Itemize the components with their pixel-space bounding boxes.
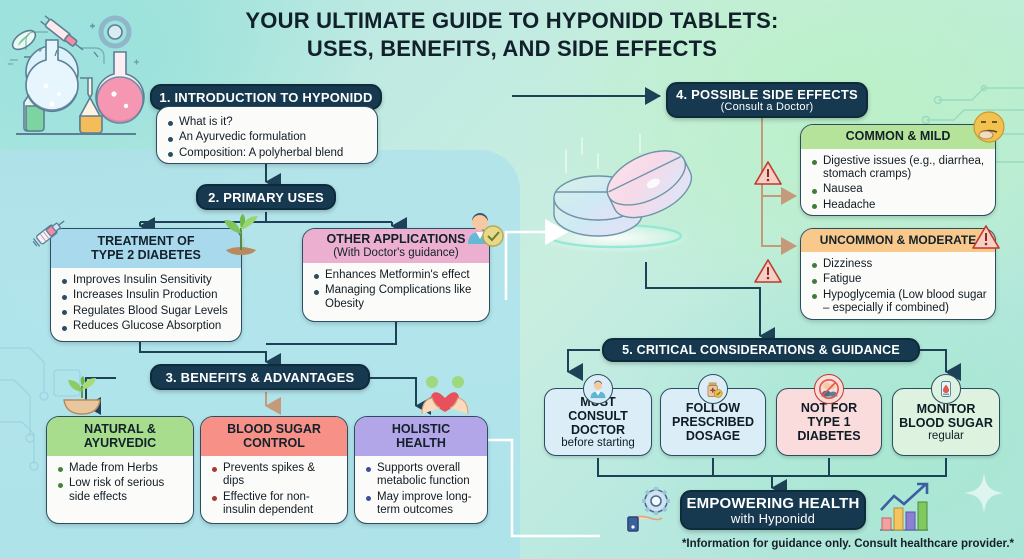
section-header-benefits-label: 3. BENEFITS & ADVANTAGES	[166, 370, 355, 385]
list-item: Composition: A polyherbal blend	[166, 147, 369, 160]
section-header-side-effects[interactable]: 4. POSSIBLE SIDE EFFECTS (Consult a Doct…	[666, 82, 868, 118]
header-line-1: OTHER APPLICATIONS	[327, 232, 466, 246]
type-2-diabetes-list: Improves Insulin Sensitivity Increases I…	[51, 268, 241, 342]
header-subline: (With Doctor's guidance)	[307, 247, 485, 259]
section-header-side-effects-subtitle: (Consult a Doctor)	[721, 101, 814, 113]
title-line-2: USES, BENEFITS, AND SIDE EFFECTS	[0, 36, 1024, 62]
natural-list: Made from Herbs Low risk of serious side…	[47, 456, 193, 513]
section-header-critical-label: 5. CRITICAL CONSIDERATIONS & GUIDANCE	[622, 343, 900, 357]
card-line-2: TYPE 1	[807, 415, 850, 429]
card-line-3: DIABETES	[797, 429, 860, 443]
card-common-mild[interactable]: COMMON & MILD Digestive issues (e.g., di…	[800, 124, 996, 216]
list-item: Low risk of serious side effects	[56, 477, 185, 504]
section-header-benefits[interactable]: 3. BENEFITS & ADVANTAGES	[150, 364, 370, 390]
footnote-disclaimer: *Information for guidance only. Consult …	[0, 538, 1014, 550]
card-blood-sugar-control[interactable]: BLOOD SUGAR CONTROL Prevents spikes & di…	[200, 416, 348, 524]
card-line-2: PRESCRIBED	[672, 415, 754, 429]
uncommon-moderate-list: Dizziness Fatigue Hypoglycemia (Low bloo…	[801, 252, 995, 320]
pill-bottle-icon	[698, 374, 728, 404]
list-item: Dizziness	[810, 258, 987, 271]
common-mild-list: Digestive issues (e.g., diarrhea, stomac…	[801, 149, 995, 217]
header-line-1: HOLISTIC	[392, 422, 450, 436]
list-item: Made from Herbs	[56, 462, 185, 475]
header-line-2: AYURVEDIC	[84, 436, 156, 450]
card-holistic-health[interactable]: HOLISTIC HEALTH Supports overall metabol…	[354, 416, 488, 524]
header-line-1: NATURAL &	[84, 422, 156, 436]
blood-sugar-list: Prevents spikes & dips Effective for non…	[201, 456, 347, 524]
card-subtitle: before starting	[561, 437, 635, 450]
other-applications-list: Enhances Metformin's effect Managing Com…	[303, 263, 489, 320]
glucose-meter-icon	[931, 374, 961, 404]
no-people-icon	[814, 374, 844, 404]
section-header-side-effects-label: 4. POSSIBLE SIDE EFFECTS	[676, 87, 858, 102]
card-natural-ayurvedic[interactable]: NATURAL & AYURVEDIC Made from Herbs Low …	[46, 416, 194, 524]
list-item: Improves Insulin Sensitivity	[60, 274, 233, 287]
list-item: Regulates Blood Sugar Levels	[60, 305, 233, 318]
card-line-2: BLOOD SUGAR	[899, 416, 993, 430]
header-line-2: CONTROL	[243, 436, 305, 450]
list-item: Increases Insulin Production	[60, 289, 233, 302]
infographic-canvas: YOUR ULTIMATE GUIDE TO HYPONIDD TABLETS:…	[0, 0, 1024, 559]
list-item: An Ayurvedic formulation	[166, 131, 369, 144]
card-natural-ayurvedic-header: NATURAL & AYURVEDIC	[47, 417, 193, 456]
card-type-2-diabetes[interactable]: TREATMENT OF TYPE 2 DIABETES Improves In…	[50, 228, 242, 342]
header-line-1: COMMON & MILD	[846, 129, 951, 143]
card-other-applications-header: OTHER APPLICATIONS (With Doctor's guidan…	[303, 229, 489, 263]
card-line-2: CONSULT	[568, 409, 628, 423]
list-item: Enhances Metformin's effect	[312, 269, 481, 282]
card-introduction[interactable]: What is it? An Ayurvedic formulation Com…	[156, 106, 378, 164]
header-line-1: UNCOMMON & MODERATE	[820, 233, 976, 247]
growth-chart-icon	[876, 482, 932, 534]
header-line-1: BLOOD SUGAR	[227, 422, 321, 436]
empowering-health-banner[interactable]: EMPOWERING HEALTH with Hyponidd	[680, 490, 866, 530]
list-item: Reduces Glucose Absorption	[60, 320, 233, 333]
header-line-2: TYPE 2 DIABETES	[91, 248, 201, 262]
card-uncommon-moderate[interactable]: UNCOMMON & MODERATE Dizziness Fatigue Hy…	[800, 228, 996, 320]
section-header-critical-considerations[interactable]: 5. CRITICAL CONSIDERATIONS & GUIDANCE	[602, 338, 920, 362]
gear-in-hand-icon	[624, 484, 678, 534]
list-item: Digestive issues (e.g., diarrhea, stomac…	[810, 155, 987, 182]
list-item: Managing Complications like Obesity	[312, 284, 481, 311]
list-item: Supports overall metabolic function	[364, 462, 479, 489]
header-line-1: TREATMENT OF	[98, 234, 195, 248]
card-holistic-health-header: HOLISTIC HEALTH	[355, 417, 487, 456]
list-item: Effective for non-insulin dependent	[210, 491, 339, 518]
section-header-primary-uses-label: 2. PRIMARY USES	[208, 190, 324, 205]
empowering-health-line-1: EMPOWERING HEALTH	[686, 495, 859, 512]
list-item: What is it?	[166, 116, 369, 129]
sparkle-icon	[962, 471, 1006, 515]
list-item: Fatigue	[810, 273, 987, 286]
list-item: Headache	[810, 199, 987, 212]
doctor-icon	[583, 374, 613, 404]
card-type-2-diabetes-header: TREATMENT OF TYPE 2 DIABETES	[51, 229, 241, 268]
page-title: YOUR ULTIMATE GUIDE TO HYPONIDD TABLETS:…	[0, 8, 1024, 62]
title-line-1: YOUR ULTIMATE GUIDE TO HYPONIDD TABLETS:	[0, 8, 1024, 34]
empowering-health-line-2: with Hyponidd	[731, 511, 815, 526]
section-header-introduction-label: 1. INTRODUCTION TO HYPONIDD	[159, 90, 372, 105]
section-header-primary-uses[interactable]: 2. PRIMARY USES	[196, 184, 336, 210]
card-uncommon-moderate-header: UNCOMMON & MODERATE	[801, 229, 995, 252]
holistic-list: Supports overall metabolic function May …	[355, 456, 487, 524]
list-item: May improve long-term outcomes	[364, 491, 479, 518]
header-line-2: HEALTH	[396, 436, 446, 450]
card-line-3: DOCTOR	[571, 423, 625, 437]
list-item: Hypoglycemia (Low blood sugar – especial…	[810, 289, 987, 316]
card-subtitle: regular	[928, 430, 964, 443]
card-other-applications[interactable]: OTHER APPLICATIONS (With Doctor's guidan…	[302, 228, 490, 322]
card-blood-sugar-control-header: BLOOD SUGAR CONTROL	[201, 417, 347, 456]
list-item: Nausea	[810, 183, 987, 196]
card-line-3: DOSAGE	[686, 429, 740, 443]
list-item: Prevents spikes & dips	[210, 462, 339, 489]
introduction-list: What is it? An Ayurvedic formulation Com…	[157, 107, 377, 164]
card-common-mild-header: COMMON & MILD	[801, 125, 995, 149]
